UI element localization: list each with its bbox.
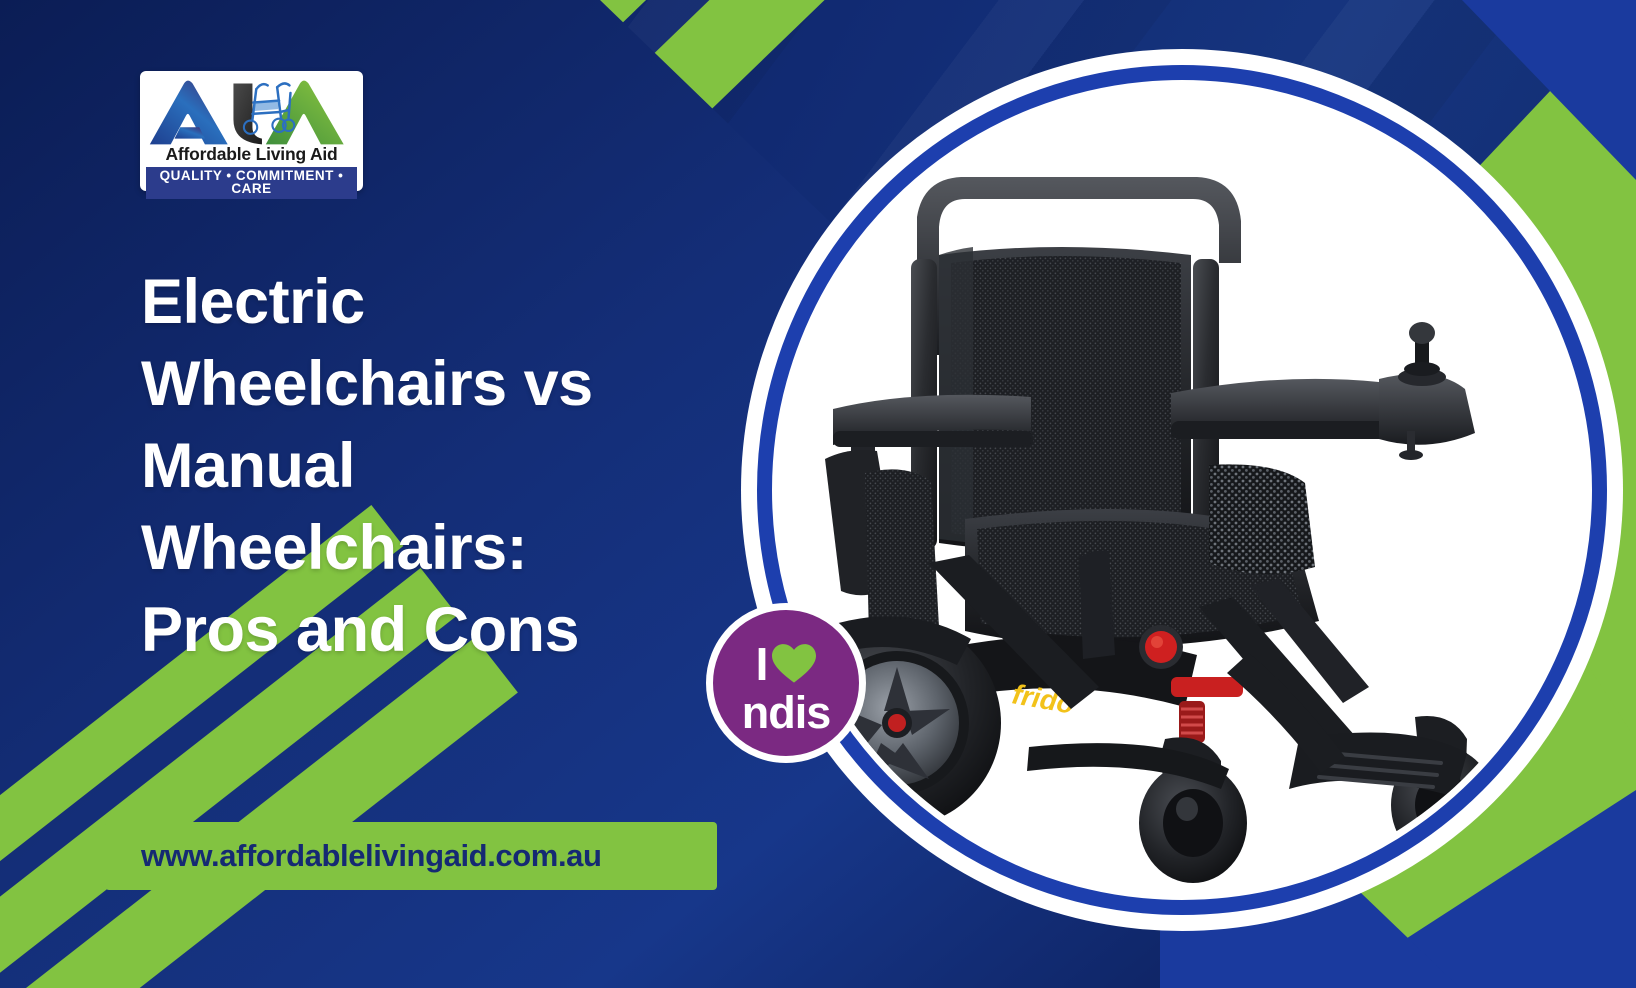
logo-mark bbox=[146, 76, 357, 148]
ndis-badge-word: ndis bbox=[742, 690, 831, 735]
heart-icon bbox=[772, 644, 816, 684]
ndis-badge-top: I bbox=[756, 636, 817, 692]
headline-line-1: Electric bbox=[141, 262, 741, 344]
website-url-text: www.affordablelivingaid.com.au bbox=[105, 838, 602, 874]
headline-line-5: Pros and Cons bbox=[141, 590, 741, 672]
headline-line-4: Wheelchairs: bbox=[141, 508, 741, 590]
banner-canvas: frido bbox=[0, 0, 1636, 988]
page-title: Electric Wheelchairs vs Manual Wheelchai… bbox=[141, 262, 741, 671]
ndis-badge-i: I bbox=[756, 641, 768, 687]
headline-line-3: Manual bbox=[141, 426, 741, 508]
company-logo[interactable]: Affordable Living Aid QUALITY • COMMITME… bbox=[140, 71, 363, 191]
logo-tagline: QUALITY • COMMITMENT • CARE bbox=[146, 167, 357, 199]
product-circle-inner: frido bbox=[779, 87, 1585, 893]
ala-monogram-icon bbox=[146, 76, 357, 148]
wheelchair-image: frido bbox=[779, 87, 1585, 893]
headline-line-2: Wheelchairs vs bbox=[141, 344, 741, 426]
website-url-banner[interactable]: www.affordablelivingaid.com.au bbox=[105, 822, 717, 890]
logo-company-name: Affordable Living Aid bbox=[146, 146, 357, 164]
